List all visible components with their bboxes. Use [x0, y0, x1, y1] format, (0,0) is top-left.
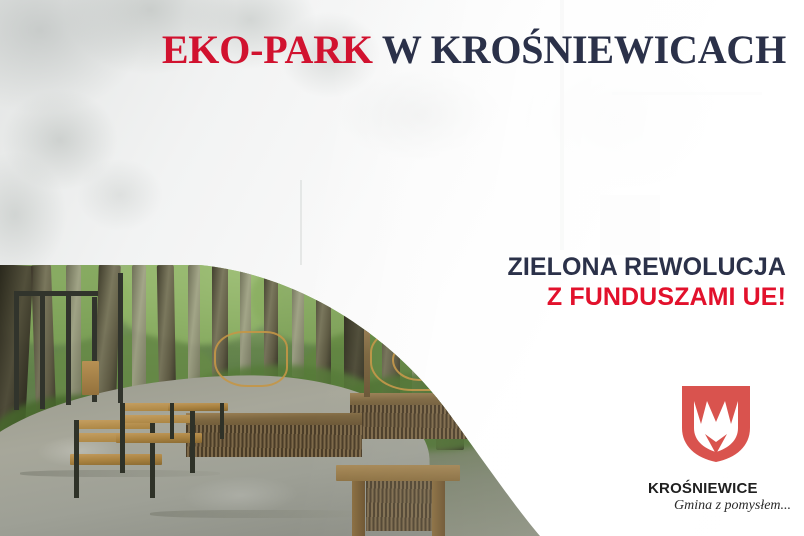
logo-tagline: Gmina z pomysłem... — [648, 497, 798, 515]
logo-text-block: KROŚNIEWICE Gmina z pomysłem... — [648, 480, 798, 515]
bench-leg — [170, 403, 174, 439]
background-streak — [300, 180, 302, 265]
title-w-krosniewicach: W KROŚNIEWICACH — [373, 27, 786, 72]
pergola-post — [40, 291, 45, 409]
pergola-beam — [14, 291, 98, 296]
bench-leg — [220, 403, 224, 439]
picnic-table-top — [336, 465, 460, 481]
coat-of-arms-shield — [680, 384, 752, 464]
subtitle-line-z-funduszami-ue: Z FUNDUSZAMI UE! — [507, 282, 786, 312]
tree-trunk — [188, 265, 200, 395]
subtitle-line-zielona-rewolucja: ZIELONA REWOLUCJA — [507, 252, 786, 282]
path-edge — [150, 510, 380, 518]
picnic-table-leg — [432, 481, 445, 536]
picnic-table-leg — [352, 481, 365, 536]
bench-seat — [168, 403, 228, 411]
poster-canvas: EKO-PARK W KROŚNIEWICACH ZIELONA REWOLUC… — [0, 0, 804, 536]
page-title: EKO-PARK W KROŚNIEWICACH — [0, 28, 786, 72]
picnic-table-woven — [366, 481, 432, 531]
title-eko-park: EKO-PARK — [162, 27, 373, 72]
subtitle-block: ZIELONA REWOLUCJA Z FUNDUSZAMI UE! — [507, 252, 786, 312]
logo-municipality-name: KROŚNIEWICE — [648, 480, 798, 497]
pergola-post — [66, 293, 71, 405]
municipality-logo: KROŚNIEWICE Gmina z pomysłem... — [648, 384, 798, 516]
park-bench — [168, 387, 228, 439]
pergola-post — [118, 273, 123, 403]
bench-leg — [120, 403, 125, 473]
branch-art-backrest — [214, 331, 288, 387]
background-streak — [612, 92, 762, 95]
background-streak — [600, 195, 660, 255]
bench-leg — [74, 420, 79, 498]
pergola-post — [14, 295, 19, 410]
waste-bin — [82, 361, 99, 395]
